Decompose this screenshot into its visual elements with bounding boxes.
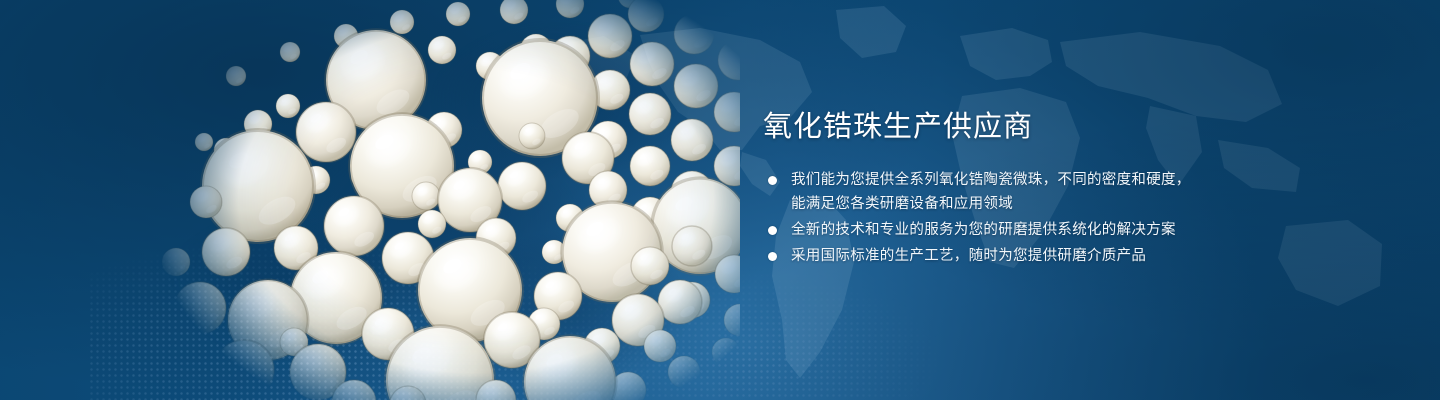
page-title: 氧化锆珠生产供应商 (763, 108, 1223, 146)
bullet-dot-icon (768, 226, 777, 235)
list-item: 采用国际标准的生产工艺，随时为您提供研磨介质产品 (763, 244, 1223, 268)
feature-list: 我们能为您提供全系列氧化锆陶瓷微珠，不同的密度和硬度， 能满足您各类研磨设备和应… (763, 168, 1223, 268)
zirconia-beads-photo (140, 0, 740, 400)
list-item: 我们能为您提供全系列氧化锆陶瓷微珠，不同的密度和硬度， 能满足您各类研磨设备和应… (763, 168, 1223, 216)
list-item-line-2: 能满足您各类研磨设备和应用领域 (791, 192, 1223, 216)
list-item-line-1: 采用国际标准的生产工艺，随时为您提供研磨介质产品 (791, 248, 1146, 264)
hero-banner: 氧化锆珠生产供应商 我们能为您提供全系列氧化锆陶瓷微珠，不同的密度和硬度， 能满… (0, 0, 1440, 400)
list-item: 全新的技术和专业的服务为您的研磨提供系统化的解决方案 (763, 218, 1223, 242)
banner-text-column: 氧化锆珠生产供应商 我们能为您提供全系列氧化锆陶瓷微珠，不同的密度和硬度， 能满… (763, 108, 1223, 270)
bullet-dot-icon (768, 252, 777, 261)
list-item-line-1: 我们能为您提供全系列氧化锆陶瓷微珠，不同的密度和硬度， (791, 172, 1191, 188)
bullet-dot-icon (768, 176, 777, 185)
list-item-line-1: 全新的技术和专业的服务为您的研磨提供系统化的解决方案 (791, 222, 1176, 238)
